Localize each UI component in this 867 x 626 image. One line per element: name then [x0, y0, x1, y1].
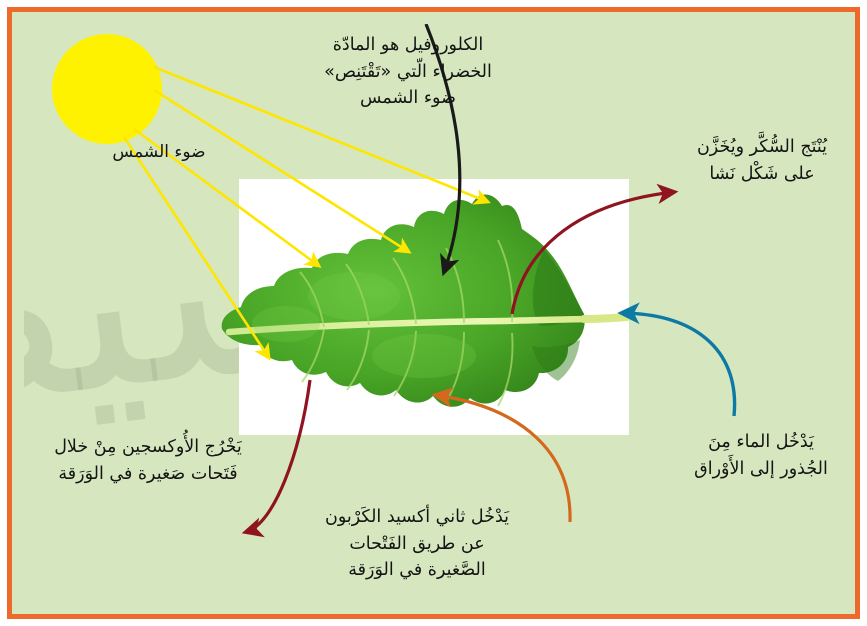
diagram-frame: بوسيط — [7, 7, 860, 619]
label-sunlight: ضوء الشمس — [74, 140, 244, 166]
callout-carbon-dioxide: يَدْخُل ثاني أكسيد الكَرْبون عن طريق الف… — [292, 504, 542, 584]
callout-water-intake: يَدْخُل الماء مِنَ الجُذور إلى الأَوْراق — [657, 429, 865, 482]
photosynthesis-diagram: بوسيط — [0, 0, 867, 626]
leaf-photo-panel — [239, 179, 629, 435]
sun-icon — [52, 34, 162, 144]
callout-sugar-produced: يُنْتَج السُّكَّر ويُخَزَّن على شَكْل نَ… — [659, 134, 865, 187]
diagram-stage: بوسيط — [24, 24, 867, 626]
arrow-water-in — [622, 313, 735, 416]
callout-chlorophyll: الكلوروفيل هو المادّة الخضراء الّتي «تَق… — [292, 32, 524, 112]
callout-oxygen-release: يَخْرُج الأُوكسجين مِنْ خلال فَتَحات صَغ… — [24, 434, 272, 487]
